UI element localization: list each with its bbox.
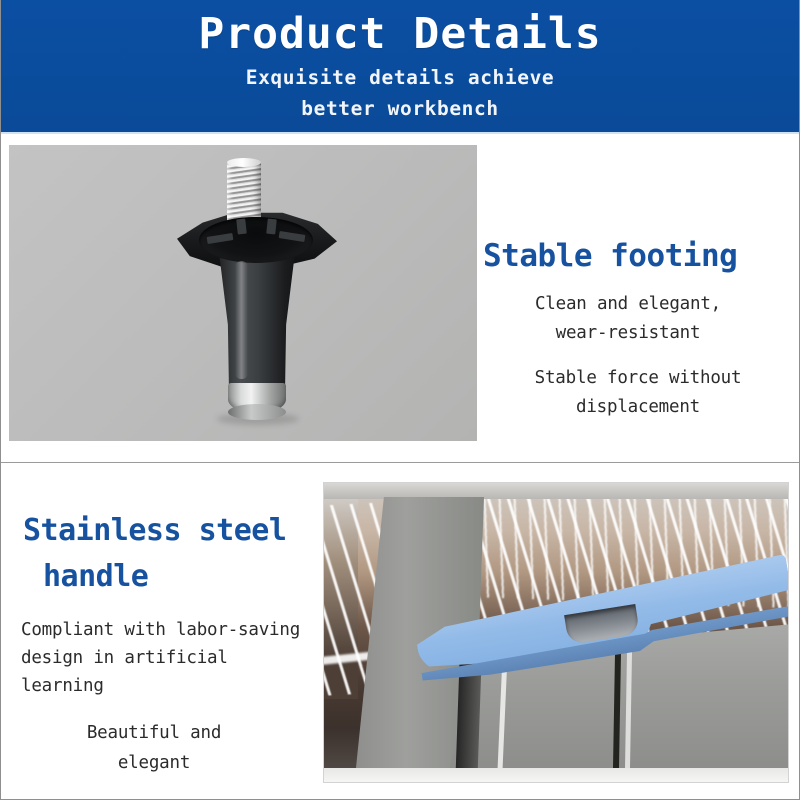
stable-footing-paragraph-1: Clean and elegant, wear-resistant [483, 290, 799, 348]
paragraph-line: design in artificial [21, 644, 319, 672]
paragraph-line: wear-resistant [483, 319, 773, 348]
header-underline [1, 132, 799, 134]
heading-line-1: Stainless steel [15, 508, 319, 554]
foot-body-highlight [235, 261, 248, 379]
flange-spoke [236, 219, 247, 235]
stable-footing-product-image [9, 145, 477, 441]
stable-footing-paragraph-2: Stable force without displacement [483, 364, 799, 422]
paragraph-line: learning [21, 672, 319, 700]
page-subtitle-line-2: better workbench [1, 93, 799, 124]
paragraph-line: Stable force without [483, 364, 793, 393]
leveling-foot-illustration [177, 161, 337, 431]
foot-tapered-body [205, 257, 309, 387]
bolt-top-face [227, 158, 261, 167]
stainless-handle-heading: Stainless steel handle [15, 508, 319, 600]
product-details-page: Product Details Exquisite details achiev… [0, 0, 800, 800]
flange-spoke [266, 219, 277, 235]
ceiling-strip [324, 483, 788, 499]
stainless-handle-paragraph-1: Compliant with labor-saving design in ar… [15, 616, 319, 700]
paragraph-line: Clean and elegant, [483, 290, 773, 319]
image-bottom-strip [324, 768, 788, 782]
page-title: Product Details [1, 6, 799, 62]
paragraph-line: Beautiful and [15, 718, 293, 748]
paragraph-line: Compliant with labor-saving [21, 616, 319, 644]
stable-footing-heading: Stable footing [483, 236, 799, 276]
page-header-banner: Product Details Exquisite details achiev… [1, 0, 799, 133]
paragraph-line: displacement [483, 393, 793, 422]
section-divider [1, 462, 799, 463]
stainless-handle-text-block: Stainless steel handle Compliant with la… [15, 508, 319, 778]
page-subtitle-line-1: Exquisite details achieve [1, 62, 799, 93]
stable-footing-text-block: Stable footing Clean and elegant, wear-r… [483, 236, 799, 422]
heading-line-2: handle [15, 554, 319, 600]
stainless-handle-product-image [323, 482, 789, 783]
stainless-handle-paragraph-2: Beautiful and elegant [15, 718, 319, 778]
paragraph-line: elegant [15, 748, 293, 778]
base-cap-bottom-edge [228, 404, 286, 420]
